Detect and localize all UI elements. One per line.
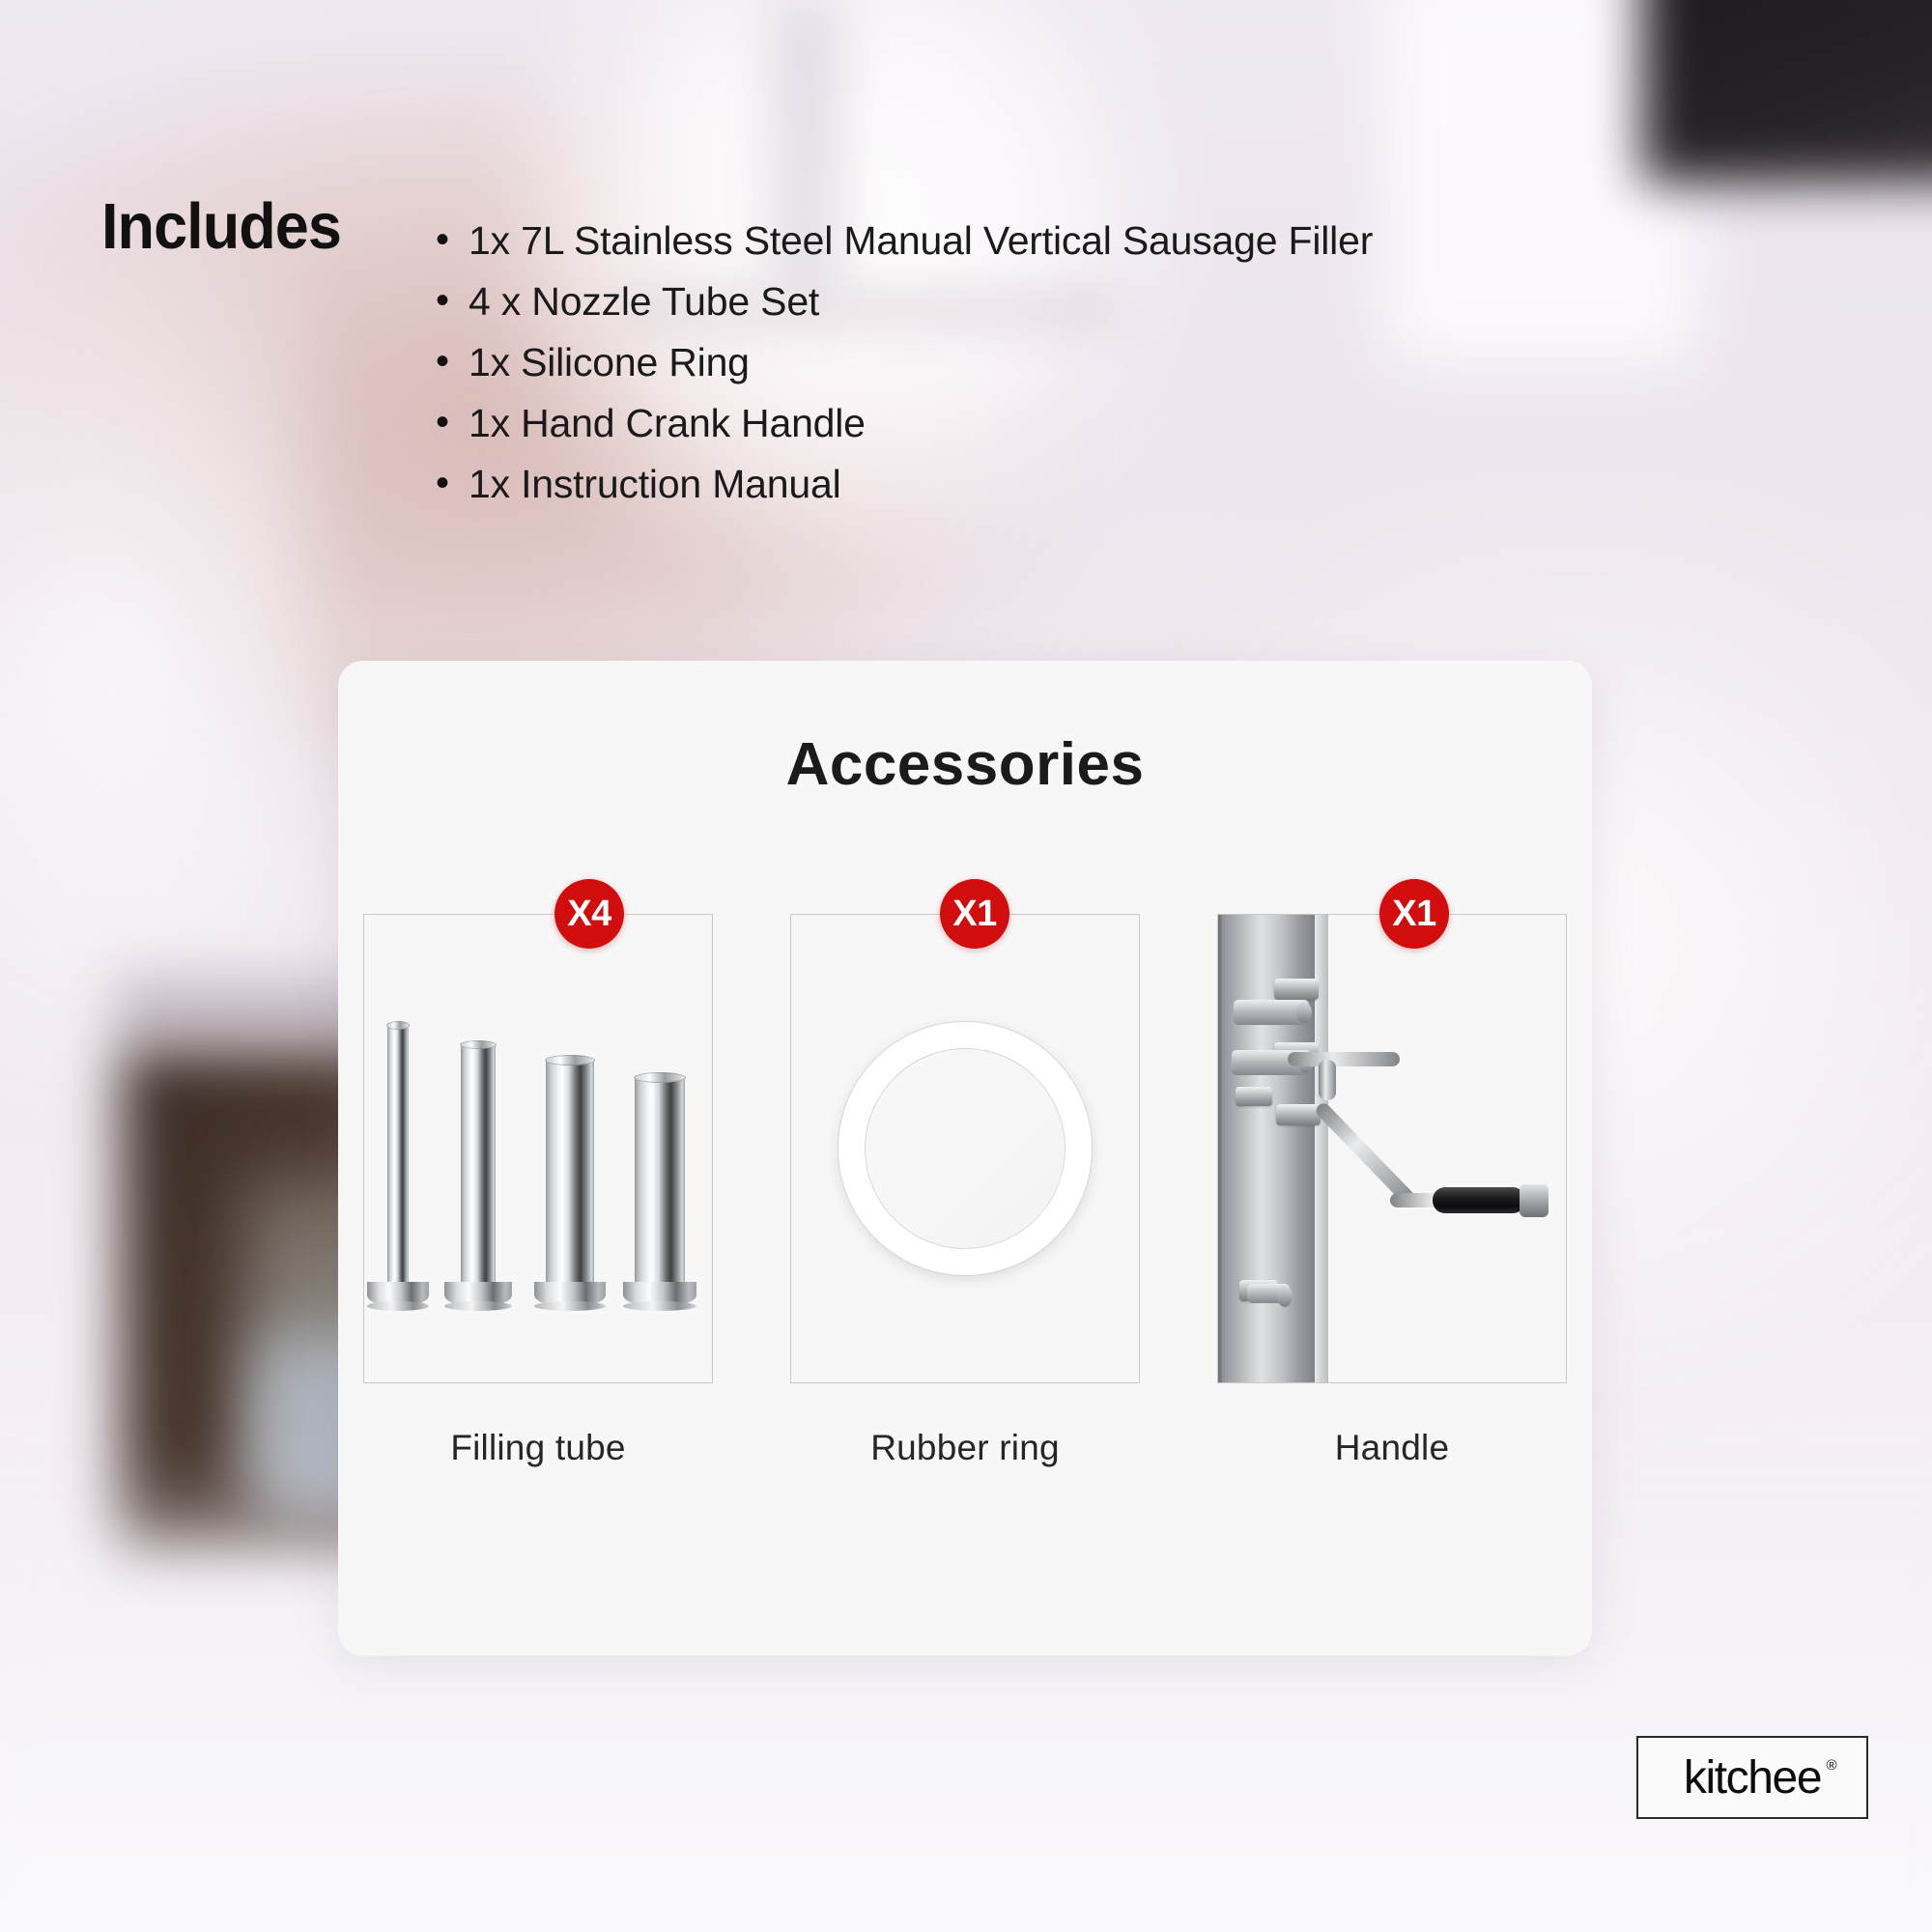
list-item: 1x Hand Crank Handle (432, 393, 1373, 454)
quantity-badge-x1-ring: X1 (940, 879, 1009, 949)
background-dark-panel (1642, 0, 1932, 184)
includes-list: 1x 7L Stainless Steel Manual Vertical Sa… (432, 211, 1373, 515)
rubber-ring-icon (791, 915, 1139, 1382)
brand-logo: kitchee ® (1636, 1736, 1868, 1819)
registered-trademark-icon: ® (1826, 1757, 1835, 1774)
brand-name: kitchee ® (1684, 1751, 1821, 1804)
list-item: 1x 7L Stainless Steel Manual Vertical Sa… (432, 211, 1373, 271)
brand-name-text: kitchee (1684, 1752, 1821, 1804)
accessory-image-box (363, 914, 713, 1383)
accessory-image-box (1217, 914, 1567, 1383)
accessory-handle: X1 (1217, 914, 1567, 1468)
background-left-highlight (0, 232, 309, 1101)
filling-tubes-icon (364, 969, 712, 1307)
silicone-ring-shape (838, 1022, 1092, 1275)
accessory-caption: Rubber ring (790, 1428, 1140, 1468)
accessories-card: Accessories X4 (338, 661, 1592, 1656)
crank-handle-icon (1218, 915, 1566, 1382)
quantity-badge-x1-handle: X1 (1379, 879, 1449, 949)
accessory-filling-tube: X4 (363, 914, 713, 1468)
accessory-rubber-ring: X1 Rubber ring (790, 914, 1140, 1468)
accessories-row: X4 (338, 914, 1592, 1468)
accessory-image-box (790, 914, 1140, 1383)
accessories-heading: Accessories (338, 730, 1592, 799)
list-item: 1x Silicone Ring (432, 332, 1373, 393)
list-item: 1x Instruction Manual (432, 454, 1373, 515)
accessory-caption: Handle (1217, 1428, 1567, 1468)
includes-heading: Includes (101, 189, 341, 264)
quantity-badge-x4: X4 (554, 879, 624, 949)
accessory-caption: Filling tube (363, 1428, 713, 1468)
list-item: 4 x Nozzle Tube Set (432, 271, 1373, 332)
